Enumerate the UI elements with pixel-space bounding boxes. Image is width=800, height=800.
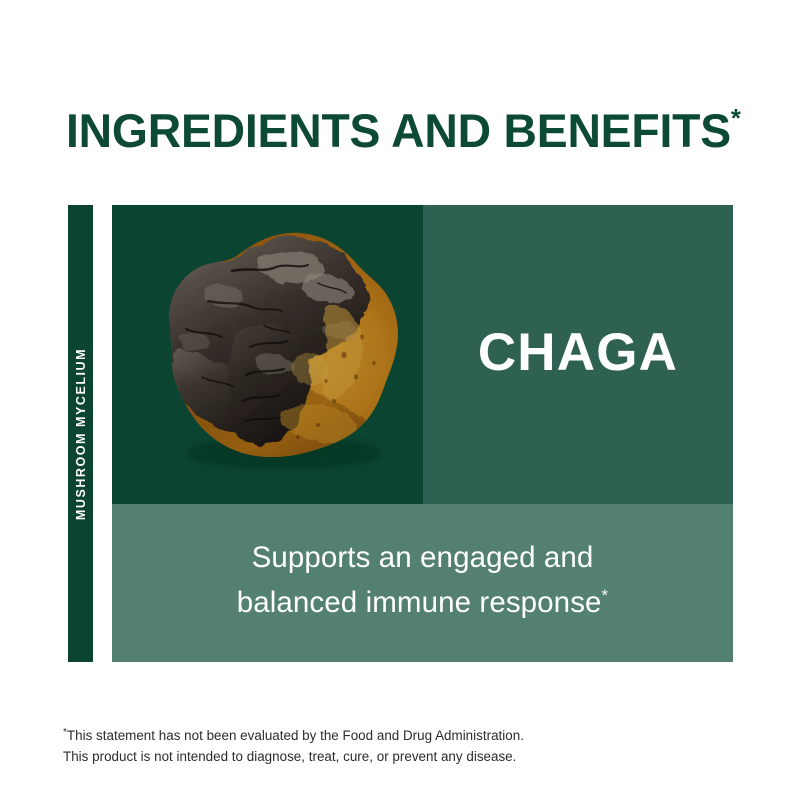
benefit-line-1: Supports an engaged and [252,541,594,574]
ingredient-benefit-panel: Supports an engaged andbalanced immune r… [112,504,733,662]
ingredient-card: CHAGA Supports an engaged andbalanced im… [112,205,733,662]
disclaimer-line-2: This product is not intended to diagnose… [63,746,703,767]
ingredient-name-panel: CHAGA [423,205,733,504]
page-title-asterisk: * [731,103,741,133]
ingredient-card-top: CHAGA [112,205,733,504]
fda-disclaimer: *This statement has not been evaluated b… [63,722,703,767]
chaga-mushroom-icon [112,205,423,504]
mushroom-grain [152,225,412,475]
ingredient-image-panel [112,205,423,504]
ingredient-name: CHAGA [478,325,678,381]
ingredients-benefits-panel: INGREDIENTS AND BENEFITS* MUSHROOM MYCEL… [0,0,800,800]
page-title-text: INGREDIENTS AND BENEFITS [66,104,731,157]
category-bar-label: MUSHROOM MYCELIUM [74,347,88,519]
category-bar: MUSHROOM MYCELIUM [68,205,93,662]
page-title: INGREDIENTS AND BENEFITS* [66,92,756,148]
ingredient-benefit-text: Supports an engaged andbalanced immune r… [211,539,635,622]
benefit-line-2: balanced immune response [237,586,602,619]
disclaimer-line-1: *This statement has not been evaluated b… [63,722,703,746]
disclaimer-line-1-text: This statement has not been evaluated by… [67,728,524,743]
benefit-asterisk: * [602,586,609,605]
